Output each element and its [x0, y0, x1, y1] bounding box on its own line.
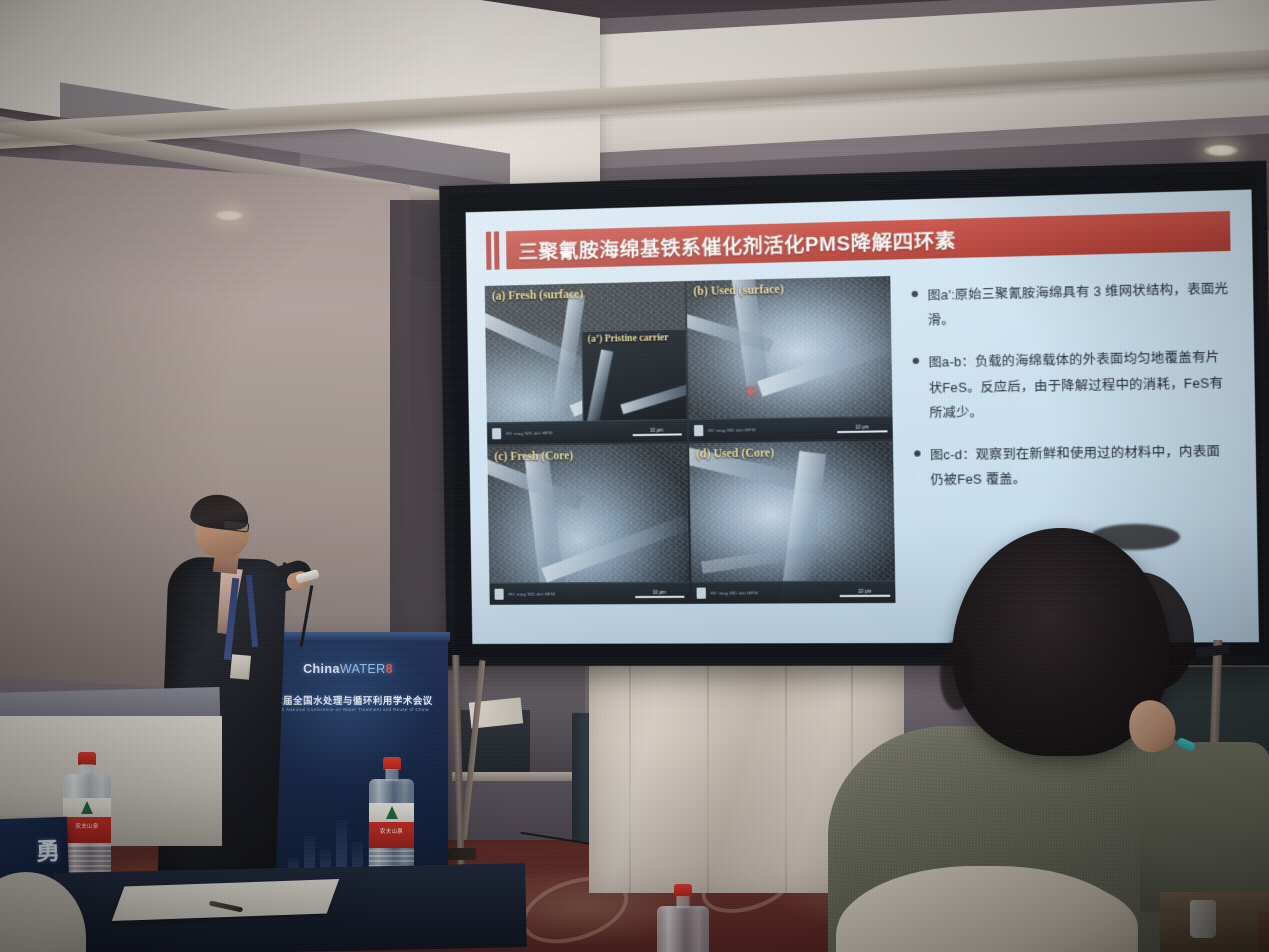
- drape-fold: [629, 648, 631, 893]
- bullet-text-1: 图a′:原始三聚氰胺海绵具有 3 维网状结构，表面光滑。: [927, 276, 1229, 333]
- sem-scalebar-line: [837, 430, 887, 433]
- laser-pointer-dot: [748, 390, 753, 394]
- sem-scalebar-line: [840, 594, 890, 596]
- bullet-dot-icon: [913, 358, 919, 364]
- sem-panel-label-b: (b) Used (surface): [693, 284, 784, 298]
- slide-title: 三聚氰胺海绵基铁系催化剂活化PMS降解四环素: [506, 211, 1231, 269]
- sem-meta: HV mag WD det HFW: [708, 427, 756, 433]
- sem-infobar-b: HV mag WD det HFW 10 μm: [688, 416, 893, 442]
- hair-wisp: [1090, 524, 1180, 550]
- sem-panel-b: (b) Used (surface) HV mag WD det HFW 10 …: [686, 276, 893, 441]
- conference-photo-scene: 三聚氰胺海绵基铁系催化剂活化PMS降解四环素 (a) Fresh (surfac…: [0, 0, 1269, 952]
- title-accent-bars: [486, 231, 507, 270]
- sem-inset-pristine: (a’) Pristine carrier: [582, 329, 687, 420]
- sem-meta: HV mag WD det HFW: [506, 430, 553, 436]
- sem-logo-chip: [492, 428, 501, 439]
- bottle-label-lower: 农夫山泉: [369, 822, 414, 848]
- bullet-dot-icon: [912, 291, 918, 297]
- bottle-label-lower: 农夫山泉: [63, 817, 111, 843]
- sem-panel-label-d: (d) Used (Core): [696, 447, 774, 460]
- sem-panel-label-c: (c) Fresh (Core): [494, 450, 573, 463]
- sem-panel-label-a-prime: (a’) Pristine carrier: [588, 333, 669, 345]
- bottle-body: [657, 906, 709, 952]
- sponge-strut: [586, 349, 614, 421]
- sem-panel-label-a: (a) Fresh (surface): [492, 289, 583, 303]
- bottle-leaf-icon: [386, 806, 398, 819]
- drape-fold: [785, 648, 787, 893]
- bullet-item: 图a-b：负载的海绵载体的外表面均匀地覆盖有片状FeS。反应后，由于降解过程中的…: [913, 345, 1232, 426]
- bullet-item: 图a′:原始三聚氰胺海绵具有 3 维网状结构，表面光滑。: [911, 276, 1229, 333]
- sem-scalebar-line: [632, 433, 681, 436]
- sem-scalebar-label: 10 μm: [635, 589, 684, 594]
- sem-infobar-c: HV mag WD det HFW 10 μm: [489, 582, 689, 605]
- sem-meta: HV mag WD det HFW: [710, 590, 758, 595]
- sem-panel-a: (a) Fresh (surface) (a’) Pristine carrie…: [485, 281, 687, 444]
- sem-scalebar-c: 10 μm: [635, 589, 684, 597]
- sem-infobar-a: HV mag WD det HFW 10 μm: [487, 419, 687, 444]
- sem-logo-chip: [693, 425, 702, 436]
- drape-fold: [707, 648, 709, 893]
- name-card-character: 勇: [35, 831, 60, 867]
- drinking-glass[interactable]: [1190, 900, 1216, 938]
- sem-infobar-d: HV mag WD det HFW 10 μm: [691, 580, 896, 604]
- sponge-strut: [621, 377, 687, 413]
- sem-logo-chip: [696, 588, 705, 599]
- bottle-leaf-icon: [81, 801, 93, 814]
- bullet-text-2: 图a-b：负载的海绵载体的外表面均匀地覆盖有片状FeS。反应后，由于降解过程中的…: [928, 345, 1231, 426]
- audience-raised-arm: [1140, 742, 1269, 912]
- bottle-brand-text: 农夫山泉: [369, 827, 414, 835]
- presenter-badge: [230, 654, 251, 680]
- screen-tripod-foot: [448, 848, 476, 860]
- logo-china-text: China: [303, 662, 340, 676]
- bullet-item: 图c-d：观察到在新鲜和使用过的材料中，内表面仍被FeS 覆盖。: [914, 439, 1232, 493]
- logo-edition-mark: 8: [386, 662, 393, 676]
- bullet-text-3: 图c-d：观察到在新鲜和使用过的材料中，内表面仍被FeS 覆盖。: [930, 439, 1232, 493]
- sem-figure-grid: (a) Fresh (surface) (a’) Pristine carrie…: [485, 276, 896, 605]
- sem-meta: HV mag WD det HFW: [509, 591, 556, 596]
- sem-logo-chip: [495, 589, 504, 600]
- sem-scalebar-label: 10 μm: [840, 588, 890, 593]
- sem-scalebar-a: 10 μm: [632, 427, 681, 436]
- bottle-brand-text: 农夫山泉: [63, 822, 111, 830]
- ceiling-light-1: [1203, 144, 1239, 157]
- sem-scalebar-label: 10 μm: [632, 427, 681, 433]
- bullet-dot-icon: [914, 450, 920, 456]
- sem-scalebar-line: [635, 595, 684, 597]
- slide-title-row: 三聚氰胺海绵基铁系催化剂活化PMS降解四环素: [486, 211, 1231, 270]
- sem-panel-d: (d) Used (Core) HV mag WD det HFW 10 μm: [689, 440, 896, 603]
- ceiling-light-6: [214, 210, 244, 221]
- hair-wisp: [940, 640, 974, 710]
- water-bottle[interactable]: [657, 884, 709, 952]
- sem-panel-c: (c) Fresh (Core) HV mag WD det HFW 10 μm: [487, 443, 689, 604]
- logo-water-text: WATER: [340, 662, 386, 676]
- sem-scalebar-b: 10 μm: [837, 424, 887, 433]
- sem-scalebar-label: 10 μm: [837, 424, 887, 430]
- sem-scalebar-d: 10 μm: [840, 588, 890, 596]
